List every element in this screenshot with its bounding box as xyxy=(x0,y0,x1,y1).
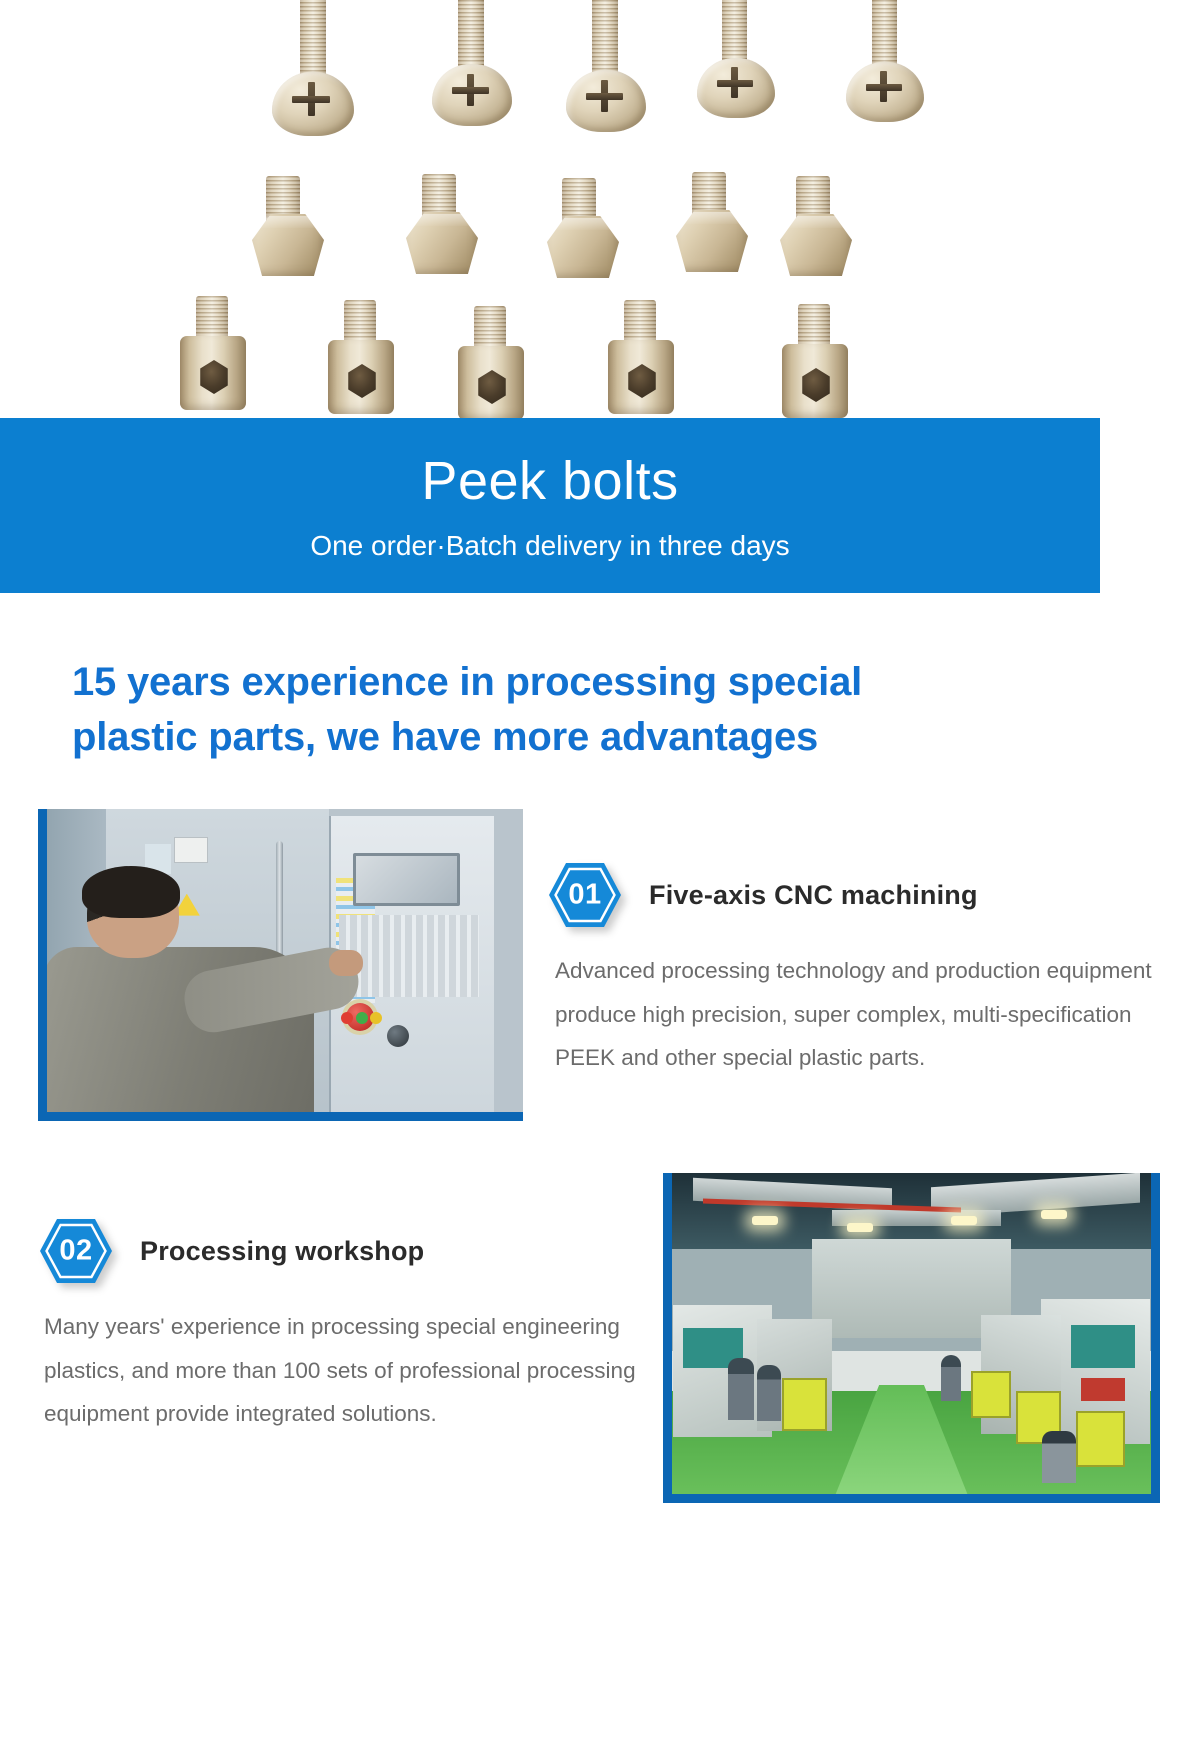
photo-border-left xyxy=(663,1173,672,1503)
feature-heading-row-01: 01 Five-axis CNC machining xyxy=(547,861,1160,929)
headline-line-2: plastic parts, we have more advantages xyxy=(72,715,818,759)
feature-text-02: 02 Processing workshop Many years' exper… xyxy=(38,1173,663,1435)
phillips-cross-slot xyxy=(292,96,330,103)
phillips-cross-slot xyxy=(717,80,753,87)
product-detail-page: Peek bolts One order·Batch delivery in t… xyxy=(0,0,1200,1503)
feature-text-01: 01 Five-axis CNC machining Advanced proc… xyxy=(523,809,1160,1079)
photo-border-bottom xyxy=(672,1494,1160,1503)
banner-subtitle: One order·Batch delivery in three days xyxy=(0,529,1100,563)
phillips-cross-slot xyxy=(866,84,902,91)
feature-body-01: Advanced processing technology and produ… xyxy=(547,949,1160,1079)
feature-block-01: 01 Five-axis CNC machining Advanced proc… xyxy=(0,809,1200,1121)
photo-border-left xyxy=(38,809,47,1121)
hex-facet xyxy=(258,216,316,228)
photo-border-bottom xyxy=(47,1112,523,1121)
feature-title-01: Five-axis CNC machining xyxy=(649,880,978,911)
feature-body-02: Many years' experience in processing spe… xyxy=(38,1305,637,1435)
feature-heading-row-02: 02 Processing workshop xyxy=(38,1217,637,1285)
hex-facet xyxy=(553,218,611,230)
feature-title-02: Processing workshop xyxy=(140,1236,424,1267)
section-headline: 15 years experience in processing specia… xyxy=(0,593,1200,765)
hexagon-badge-02: 02 xyxy=(38,1217,114,1285)
page-title: Peek bolts xyxy=(0,452,1100,511)
hex-facet xyxy=(786,216,844,228)
hex-facet xyxy=(682,212,740,224)
hex-facet xyxy=(412,214,470,226)
phillips-cross-slot xyxy=(586,93,623,100)
feature-photo-wrapper xyxy=(663,1173,1160,1503)
phillips-cross-slot xyxy=(452,87,489,94)
hexagon-badge-01: 01 xyxy=(547,861,623,929)
feature-block-02: 02 Processing workshop Many years' exper… xyxy=(0,1173,1200,1503)
headline-line-1: 15 years experience in processing specia… xyxy=(72,660,862,704)
workshop-photo xyxy=(663,1173,1160,1503)
bolt-arrangement xyxy=(0,0,1100,418)
hero-product-image xyxy=(0,0,1100,418)
cnc-machining-photo xyxy=(38,809,523,1121)
badge-number-02: 02 xyxy=(38,1235,114,1268)
hero-banner: Peek bolts One order·Batch delivery in t… xyxy=(0,418,1100,593)
badge-number-01: 01 xyxy=(547,879,623,912)
photo-border-right xyxy=(1151,1173,1160,1503)
feature-photo-wrapper xyxy=(38,809,523,1121)
